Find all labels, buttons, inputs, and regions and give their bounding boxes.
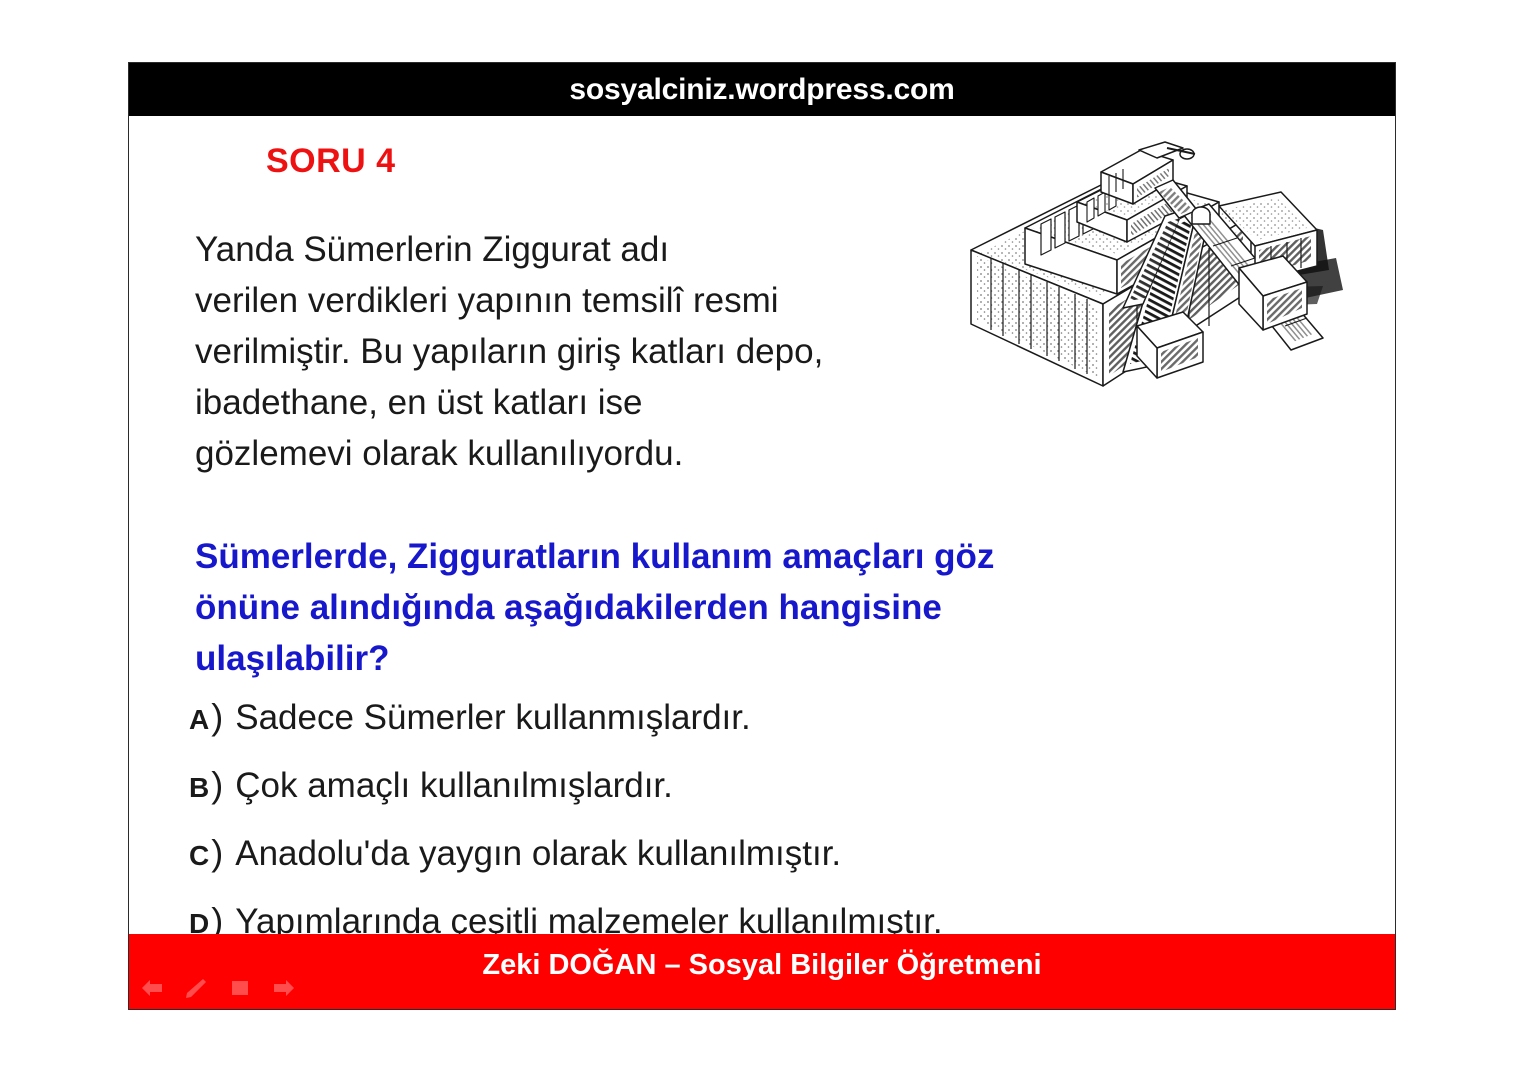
prompt-line: Sümerlerde, Zigguratların kullanım amaçl… (195, 531, 1215, 582)
question-passage: Yanda Sümerlerin Ziggurat adı verilen ve… (195, 224, 985, 479)
author-credit: Zeki DOĞAN – Sosyal Bilgiler Öğretmeni (482, 949, 1041, 982)
question-number-label: SORU 4 (266, 142, 396, 181)
option-paren: ) (211, 832, 223, 874)
option-text: Anadolu'da yaygın olarak kullanılmıştır. (235, 834, 841, 874)
option-paren: ) (211, 764, 223, 806)
arrow-right-icon[interactable] (271, 977, 297, 999)
passage-line: verilen verdikleri yapının temsilî resmi (195, 275, 985, 326)
presentation-nav-controls (139, 977, 297, 999)
answer-options-list: A ) Sadece Sümerler kullanmışlardır. B )… (189, 696, 1289, 968)
passage-line: Yanda Sümerlerin Ziggurat adı (195, 224, 985, 275)
prompt-line: ulaşılabilir? (195, 633, 1215, 684)
arrow-left-icon[interactable] (139, 977, 165, 999)
slide-footer-bar: Zeki DOĞAN – Sosyal Bilgiler Öğretmeni (129, 934, 1395, 1009)
ziggurat-illustration (951, 118, 1356, 408)
pen-icon[interactable] (183, 977, 209, 999)
passage-line: gözlemevi olarak kullanılıyordu. (195, 428, 985, 479)
answer-option-c[interactable]: C ) Anadolu'da yaygın olarak kullanılmış… (189, 832, 1289, 900)
passage-line: verilmiştir. Bu yapıların giriş katları … (195, 326, 985, 377)
option-text: Sadece Sümerler kullanmışlardır. (235, 698, 751, 738)
passage-line: ibadethane, en üst katları ise (195, 377, 985, 428)
presentation-slide: sosyalciniz.wordpress.com SORU 4 (128, 62, 1396, 1010)
slide-body: SORU 4 (129, 116, 1395, 934)
option-letter: B (189, 772, 209, 804)
option-letter: A (189, 704, 209, 736)
option-letter: C (189, 840, 209, 872)
question-prompt: Sümerlerde, Zigguratların kullanım amaçl… (195, 531, 1215, 684)
site-url-title: sosyalciniz.wordpress.com (569, 73, 954, 107)
slide-header-bar: sosyalciniz.wordpress.com (129, 63, 1395, 116)
answer-option-a[interactable]: A ) Sadece Sümerler kullanmışlardır. (189, 696, 1289, 764)
answer-option-b[interactable]: B ) Çok amaçlı kullanılmışlardır. (189, 764, 1289, 832)
slide-menu-icon[interactable] (227, 977, 253, 999)
option-paren: ) (211, 696, 223, 738)
prompt-line: önüne alındığında aşağıdakilerden hangis… (195, 582, 1215, 633)
option-text: Çok amaçlı kullanılmışlardır. (235, 766, 673, 806)
